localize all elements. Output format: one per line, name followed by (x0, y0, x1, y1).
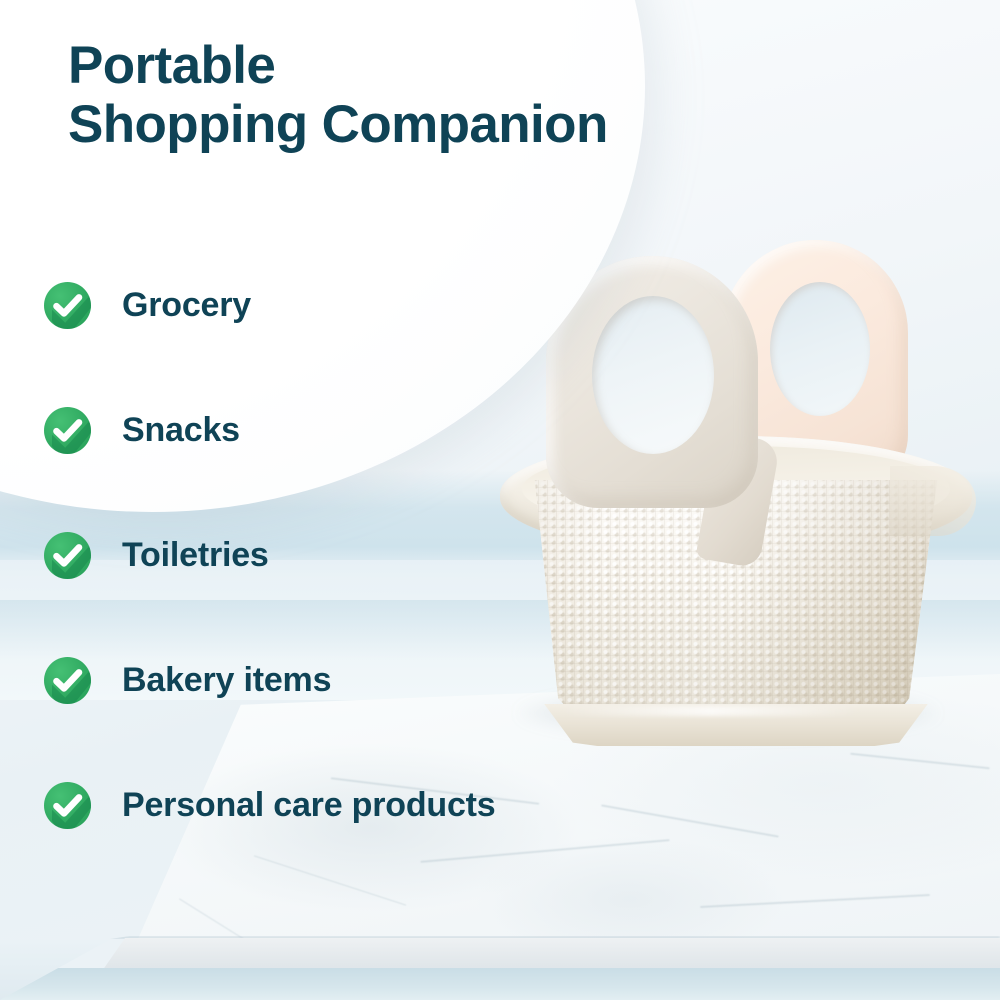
check-glyph (44, 657, 91, 704)
feature-item-bakery-items: Bakery items (44, 657, 684, 703)
feature-list: Grocery Snacks Toiletries (44, 282, 684, 828)
feature-item-personal-care-products: Personal care products (44, 782, 684, 828)
feature-label: Snacks (122, 411, 240, 450)
feature-label: Bakery items (122, 661, 331, 700)
check-glyph (44, 282, 91, 329)
floor-strip (0, 968, 1000, 1000)
check-circle-icon (44, 782, 91, 829)
feature-item-snacks: Snacks (44, 407, 684, 453)
check-glyph (44, 407, 91, 454)
feature-label: Personal care products (122, 786, 496, 825)
check-glyph (44, 782, 91, 829)
feature-item-grocery: Grocery (44, 282, 684, 328)
feature-item-toiletries: Toiletries (44, 532, 684, 578)
check-circle-icon (44, 657, 91, 704)
basket-back-handle-hole (770, 282, 870, 416)
feature-label: Grocery (122, 286, 251, 325)
check-circle-icon (44, 407, 91, 454)
feature-label: Toiletries (122, 536, 269, 575)
page-title: Portable Shopping Companion (68, 36, 748, 155)
basket-rim-right-edge (890, 466, 976, 536)
check-glyph (44, 532, 91, 579)
check-circle-icon (44, 532, 91, 579)
page-title-line-2: Shopping Companion (68, 95, 748, 154)
product-feature-graphic: Portable Shopping Companion Grocery Snac… (0, 0, 1000, 1000)
check-circle-icon (44, 282, 91, 329)
page-title-line-1: Portable (68, 36, 748, 95)
